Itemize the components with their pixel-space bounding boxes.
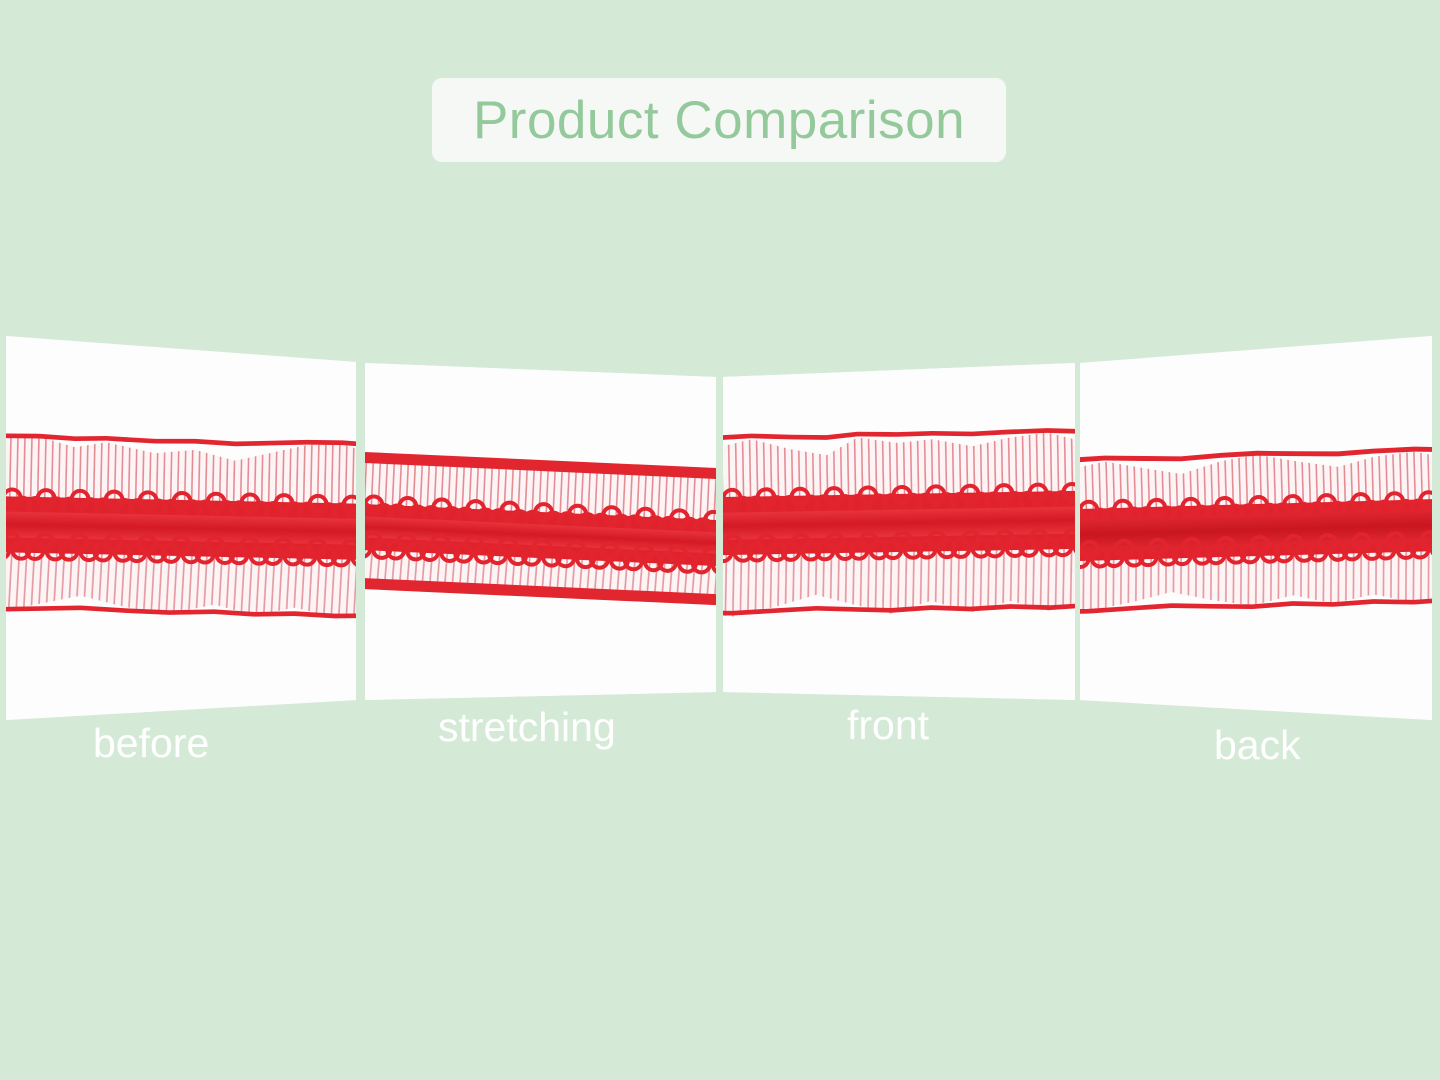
braid-flower [1018,528,1053,559]
braid-flower [419,533,454,565]
page-title: Product Comparison [473,94,965,147]
braid-flower [1239,535,1274,566]
braid-flower [848,531,883,562]
braid-flower [950,529,985,560]
panel-label-stretching: stretching [438,707,616,748]
braid-flower [262,537,297,568]
panel-label-back: back [1214,725,1301,766]
comparison-panel-back [1078,320,1440,720]
photo-stretching [362,320,718,720]
photo-front [721,320,1077,720]
braid-flower [453,534,488,566]
comparison-panel-before [0,320,360,720]
braid-flower [984,529,1019,560]
braid-flower [92,533,127,564]
braid-flower [1205,536,1240,567]
braid-flower [160,534,195,565]
braid-flower [1078,540,1104,571]
braid-flower [362,529,386,561]
braid-flower [555,539,590,571]
braid-flower [194,535,229,566]
braid-flower [385,531,420,563]
comparison-panel-front [721,320,1077,720]
braid-flower [330,538,360,569]
braid-flower [916,530,951,561]
braid-flower [746,533,781,564]
braid-flower [589,540,624,572]
product-comparison-graphic: Product Comparison [0,0,1440,1080]
braid-flower [882,530,917,561]
braid-flower [721,533,747,564]
braid-flower [487,536,522,568]
braid-flower [1052,527,1077,558]
panel-label-front: front [847,705,929,746]
braid-flower [126,534,161,565]
photo-before [0,320,360,720]
braid-flower [521,537,556,569]
braid-flower [0,531,25,562]
comparison-panel-strip [0,320,1440,720]
braid-flower [1409,530,1440,561]
braid-flower [24,532,59,563]
panel-label-before: before [93,723,209,764]
braid-flower [1137,538,1172,569]
braid-flower [296,537,331,568]
braid-flower [623,542,658,574]
braid-flower [58,532,93,563]
braid-flower [1375,531,1410,562]
braid-flower [691,545,718,577]
braid-flower [780,532,815,563]
braid-flower [1341,532,1376,563]
braid-flower [1171,537,1206,568]
braid-flower [657,543,692,575]
braid-flower [1273,534,1308,565]
braid-flower [1307,533,1342,564]
comparison-panel-stretching [362,320,718,720]
title-badge: Product Comparison [432,78,1006,162]
braid-flower [228,536,263,567]
photo-back [1078,320,1440,720]
braid-flower [814,531,849,562]
braid-flower [1103,539,1138,570]
